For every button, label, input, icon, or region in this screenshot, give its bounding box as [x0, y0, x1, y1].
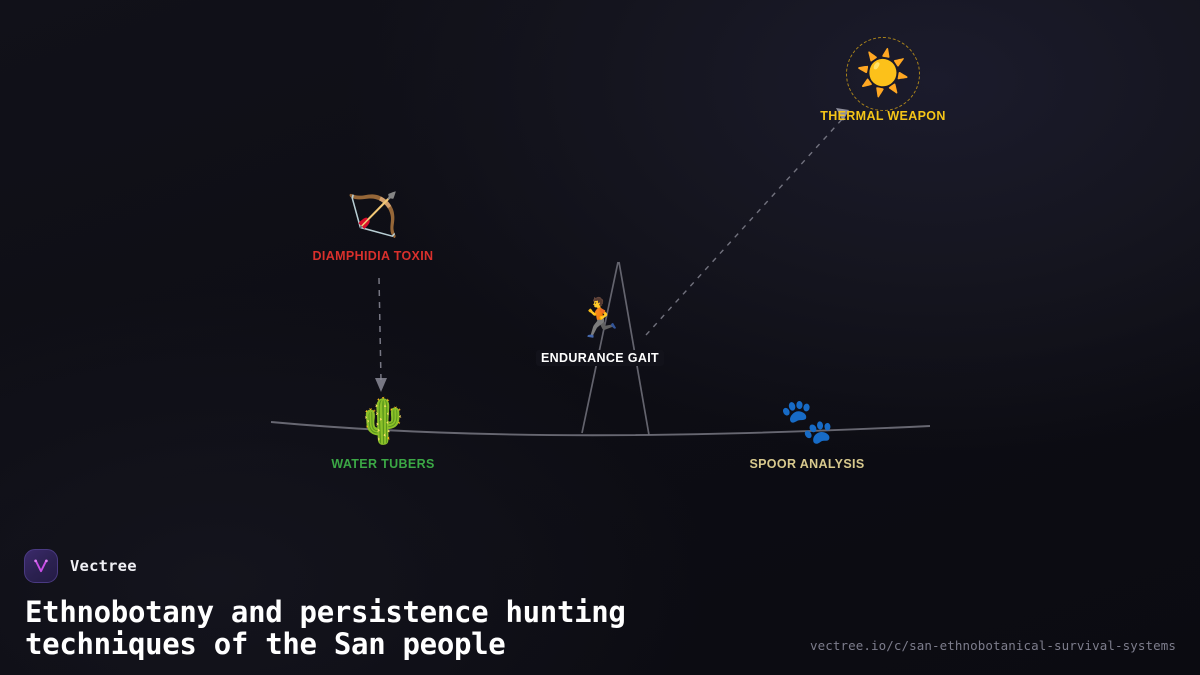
- edge-toxin-to-tubers: [379, 278, 381, 381]
- graph-node-spoor-analysis[interactable]: 🐾 SPOOR ANALYSIS: [697, 394, 917, 472]
- graph-node-endurance-gait[interactable]: 🏃 ENDURANCE GAIT: [490, 294, 710, 366]
- runner-icon: 🏃: [576, 294, 623, 344]
- graph-node-label-diamphidia-toxin: DIAMPHIDIA TOXIN: [308, 248, 439, 264]
- graph-node-label-spoor-analysis: SPOOR ANALYSIS: [744, 456, 869, 472]
- paw-prints-icon-glyph: 🐾: [780, 400, 835, 444]
- bow-and-arrow-icon-glyph: 🏹: [347, 194, 399, 236]
- vectree-v-logo-glyph: [31, 556, 51, 576]
- bow-and-arrow-icon: 🏹: [347, 188, 399, 242]
- graph-node-label-endurance-gait: ENDURANCE GAIT: [536, 350, 664, 366]
- runner-icon-glyph: 🏃: [576, 300, 623, 338]
- node-halo-ring: [846, 37, 920, 111]
- cactus-icon: 🌵: [356, 394, 411, 450]
- graph-node-thermal-weapon[interactable]: ☀️ THERMAL WEAPON: [773, 46, 993, 124]
- graph-node-water-tubers[interactable]: 🌵 WATER TUBERS: [273, 394, 493, 472]
- sun-icon: ☀️: [856, 46, 911, 102]
- footer-url: vectree.io/c/san-ethnobotanical-survival…: [810, 638, 1176, 653]
- brand-row: Vectree: [24, 549, 1176, 583]
- vectree-v-logo-icon: [24, 549, 58, 583]
- edge-toxin-to-tubers-arrowhead: [375, 378, 387, 392]
- page-title: Ethnobotany and persistence hunting tech…: [25, 597, 785, 661]
- cactus-icon-glyph: 🌵: [356, 400, 411, 444]
- footer-caption-bar: Vectree Ethnobotany and persistence hunt…: [0, 549, 1200, 675]
- graph-node-diamphidia-toxin[interactable]: 🏹 DIAMPHIDIA TOXIN: [263, 188, 483, 264]
- graph-node-label-water-tubers: WATER TUBERS: [326, 456, 439, 472]
- brand-name: Vectree: [70, 557, 137, 575]
- paw-prints-icon: 🐾: [780, 394, 835, 450]
